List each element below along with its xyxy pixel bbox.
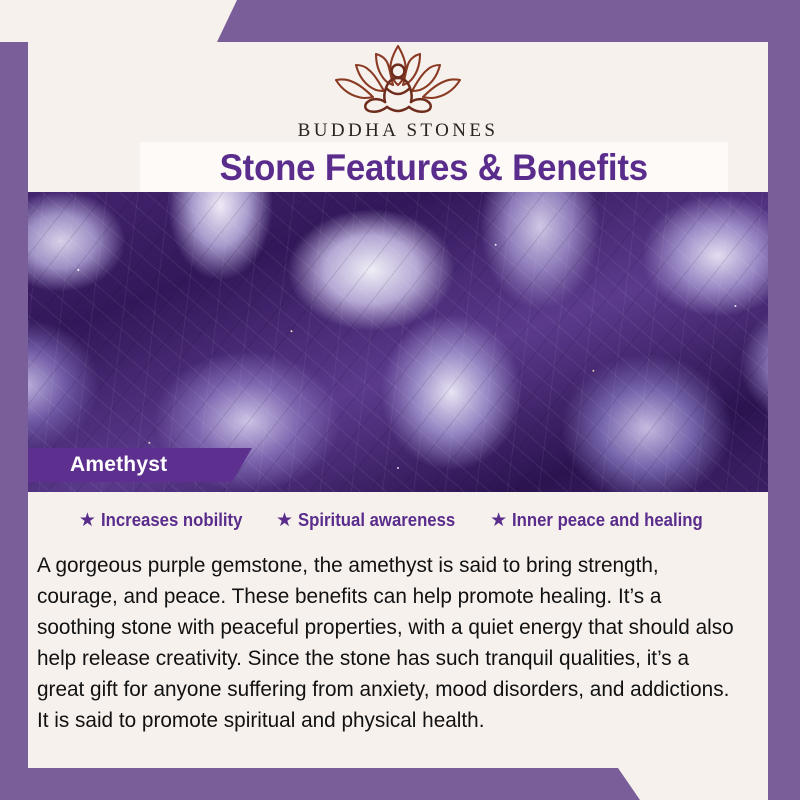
frame-top-bar [217,0,800,42]
stone-name-ribbon: Amethyst [28,448,252,482]
star-icon: ★ [276,511,293,530]
benefit-label: Spiritual awareness [298,510,455,531]
benefit-item: ★ Spiritual awareness [276,510,467,531]
benefit-label: Increases nobility [101,510,242,531]
brand-wordmark: BUDDHA STONES [298,120,499,142]
benefit-label: Inner peace and healing [512,510,703,531]
frame-right-bar [768,0,800,800]
stone-name-label: Amethyst [70,453,167,477]
page-title: Stone Features & Benefits [220,147,648,189]
stone-description-text: A gorgeous purple gemstone, the amethyst… [37,550,741,736]
lotus-meditation-icon [314,42,482,118]
card-content-area: BUDDHA STONES Stone Features & Benefits … [28,42,768,768]
star-icon: ★ [79,511,96,530]
frame-left-bar [0,42,28,800]
brand-logo-block: BUDDHA STONES [28,42,768,142]
photo-vignette [28,192,768,492]
stone-benefits-card: BUDDHA STONES Stone Features & Benefits … [0,0,800,800]
benefit-item: ★ Increases nobility [79,510,253,531]
benefit-item: ★ Inner peace and healing [490,510,717,531]
benefits-row: ★ Increases nobility ★ Spiritual awarene… [28,510,768,531]
amethyst-crystal-cluster-photo [28,192,768,492]
frame-bottom-bar [0,768,640,800]
title-band: Stone Features & Benefits [140,142,728,194]
star-icon: ★ [490,511,507,530]
